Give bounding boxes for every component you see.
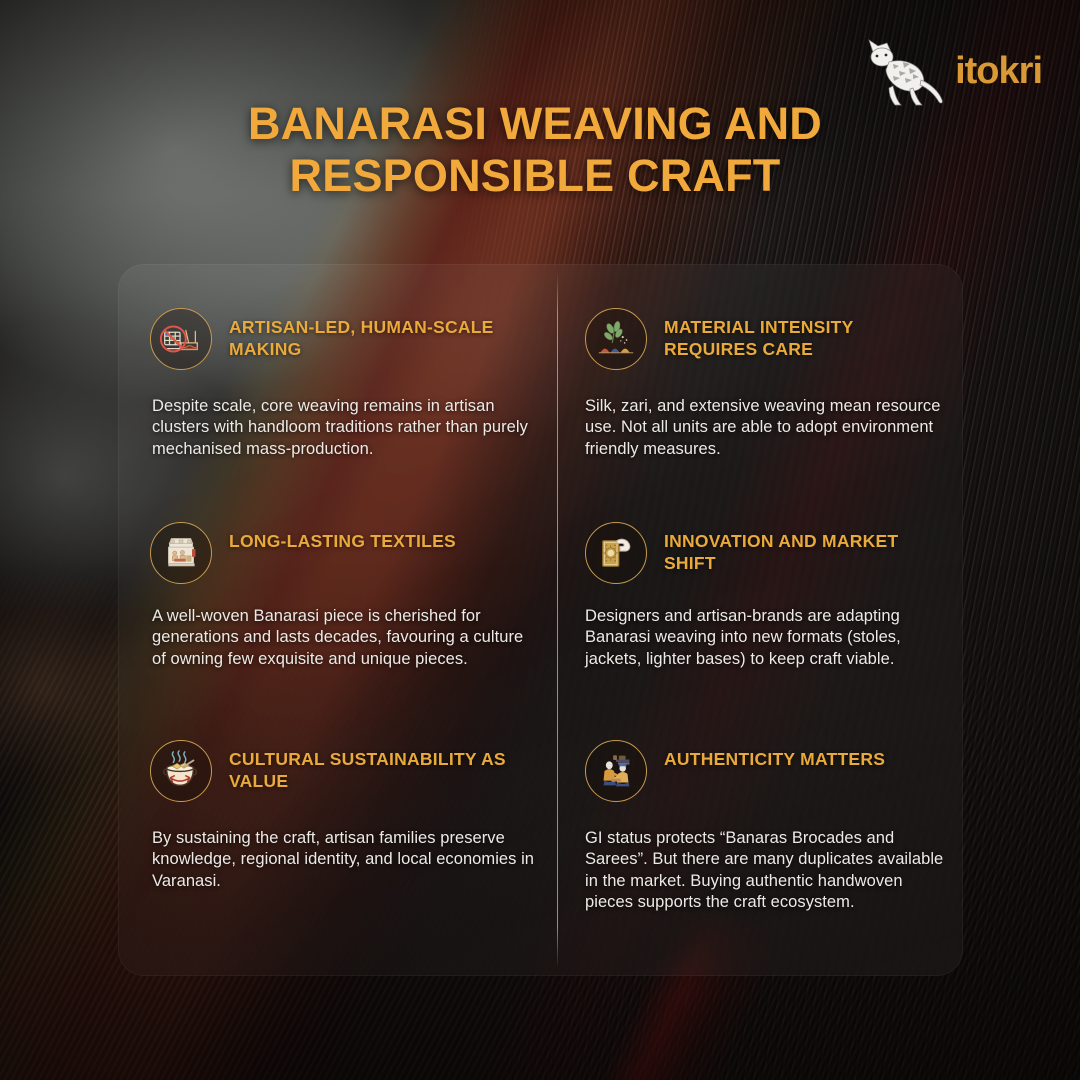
card-body: Despite scale, core weaving remains in a… xyxy=(150,396,535,460)
no-power-loom-icon xyxy=(150,308,212,370)
craft-shop-storefront-icon xyxy=(150,522,212,584)
card-innovation-market-shift: INNOVATION AND MARKET SHIFT Designers an… xyxy=(557,522,963,734)
brand-logo: itokri xyxy=(853,34,1042,108)
leaves-and-dye-powder-icon xyxy=(585,308,647,370)
card-artisan-led: ARTISAN-LED, HUMAN-SCALE MAKING Despite … xyxy=(118,308,557,522)
card-authenticity-matters: AUTHENTICITY MATTERS GI status protects … xyxy=(557,734,963,1020)
card-header: ARTISAN-LED, HUMAN-SCALE MAKING xyxy=(150,308,535,370)
card-title: CULTURAL SUSTAINABILITY AS VALUE xyxy=(229,740,535,792)
hand-holding-brocade-icon xyxy=(585,522,647,584)
steaming-dye-pot-icon xyxy=(150,740,212,802)
card-body: Silk, zari, and extensive weaving mean r… xyxy=(585,396,947,460)
card-body: GI status protects “Banaras Brocades and… xyxy=(585,828,947,914)
card-material-intensity: MATERIAL INTENSITY REQUIRES CARE Silk, z… xyxy=(557,308,963,522)
card-header: CULTURAL SUSTAINABILITY AS VALUE xyxy=(150,734,535,802)
card-long-lasting-textiles: LONG-LASTING TEXTILES A well-woven Banar… xyxy=(118,522,557,734)
cards-grid: ARTISAN-LED, HUMAN-SCALE MAKING Despite … xyxy=(118,264,963,976)
card-title: INNOVATION AND MARKET SHIFT xyxy=(664,522,947,574)
title-line-2: RESPONSIBLE CRAFT xyxy=(290,150,781,201)
card-title: MATERIAL INTENSITY REQUIRES CARE xyxy=(664,308,947,360)
cat-illustration-icon xyxy=(853,34,945,108)
card-body: By sustaining the craft, artisan familie… xyxy=(150,828,535,892)
card-body: Designers and artisan-brands are adaptin… xyxy=(585,606,947,670)
card-title: ARTISAN-LED, HUMAN-SCALE MAKING xyxy=(229,308,535,360)
card-title: LONG-LASTING TEXTILES xyxy=(229,522,456,553)
brand-name: itokri xyxy=(955,52,1042,90)
card-header: LONG-LASTING TEXTILES xyxy=(150,522,535,584)
card-header: AUTHENTICITY MATTERS xyxy=(585,734,947,802)
page-title: BANARASI WEAVING AND RESPONSIBLE CRAFT xyxy=(0,98,1080,202)
card-title: AUTHENTICITY MATTERS xyxy=(664,740,885,771)
card-body: A well-woven Banarasi piece is cherished… xyxy=(150,606,535,670)
card-cultural-sustainability: CULTURAL SUSTAINABILITY AS VALUE By sust… xyxy=(118,734,557,1020)
card-header: INNOVATION AND MARKET SHIFT xyxy=(585,522,947,584)
content-panel: ARTISAN-LED, HUMAN-SCALE MAKING Despite … xyxy=(118,264,963,976)
card-header: MATERIAL INTENSITY REQUIRES CARE xyxy=(585,308,947,370)
title-line-1: BANARASI WEAVING AND xyxy=(248,98,822,149)
infographic-poster: itokri BANARASI WEAVING AND RESPONSIBLE … xyxy=(0,0,1080,1080)
two-seated-artisans-icon xyxy=(585,740,647,802)
